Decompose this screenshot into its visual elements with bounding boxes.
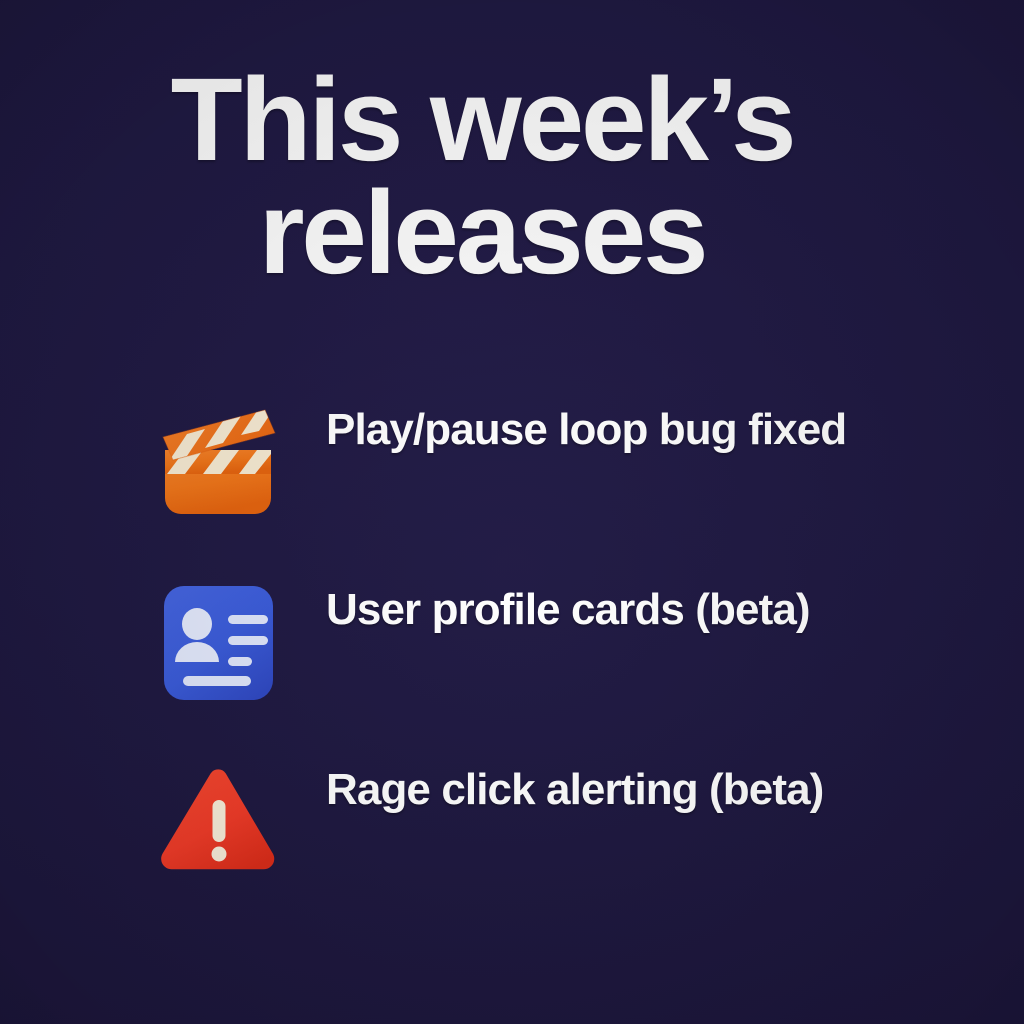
list-item: User profile cards (beta) (0, 570, 1024, 750)
page-title-line-2: releases (0, 177, 964, 290)
list-item: Rage click alerting (beta) (0, 750, 1024, 930)
clapperboard-icon (157, 404, 279, 516)
list-item-label: Rage click alerting (beta) (326, 762, 886, 818)
list-item-label: Play/pause loop bug fixed (326, 402, 886, 458)
page-title: This week’s releases (0, 64, 964, 291)
list-item: Play/pause loop bug fixed (0, 390, 1024, 570)
profile-card-icon (157, 584, 279, 696)
release-list: Play/pause loop bug fixed (0, 390, 1024, 930)
page-title-line-1: This week’s (0, 64, 964, 177)
warning-triangle-icon (157, 764, 279, 876)
release-notes-poster: This week’s releases (0, 0, 1024, 1024)
list-item-label: User profile cards (beta) (326, 582, 886, 638)
